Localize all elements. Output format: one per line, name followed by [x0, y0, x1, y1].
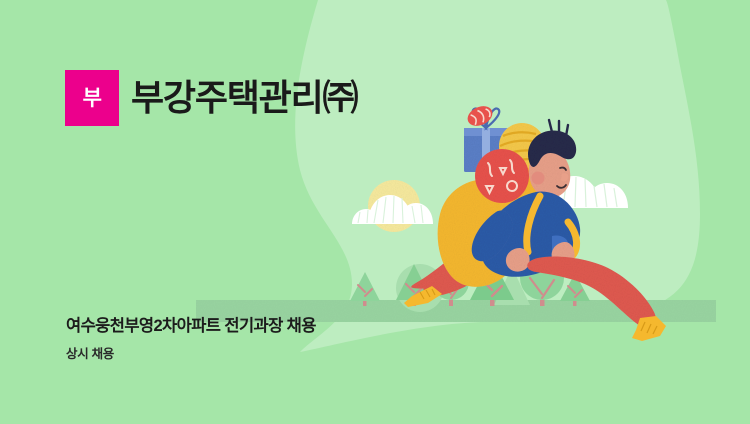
job-title[interactable]: 여수웅천부영2차아파트 전기과장 채용 — [66, 316, 316, 337]
job-info-block: 여수웅천부영2차아파트 전기과장 채용 상시 채용 — [66, 316, 316, 362]
brand-row[interactable]: 부 부강주택관리㈜ — [65, 70, 357, 126]
job-posting-card: 부 부강주택관리㈜ 여수웅천부영2차아파트 전기과장 채용 상시 채용 — [0, 0, 750, 424]
card-content: 부 부강주택관리㈜ 여수웅천부영2차아파트 전기과장 채용 상시 채용 — [0, 0, 750, 424]
company-name[interactable]: 부강주택관리㈜ — [131, 80, 357, 116]
company-logo-badge: 부 — [65, 70, 119, 126]
job-recruitment-type: 상시 채용 — [66, 347, 316, 362]
company-logo-initial: 부 — [83, 88, 102, 109]
